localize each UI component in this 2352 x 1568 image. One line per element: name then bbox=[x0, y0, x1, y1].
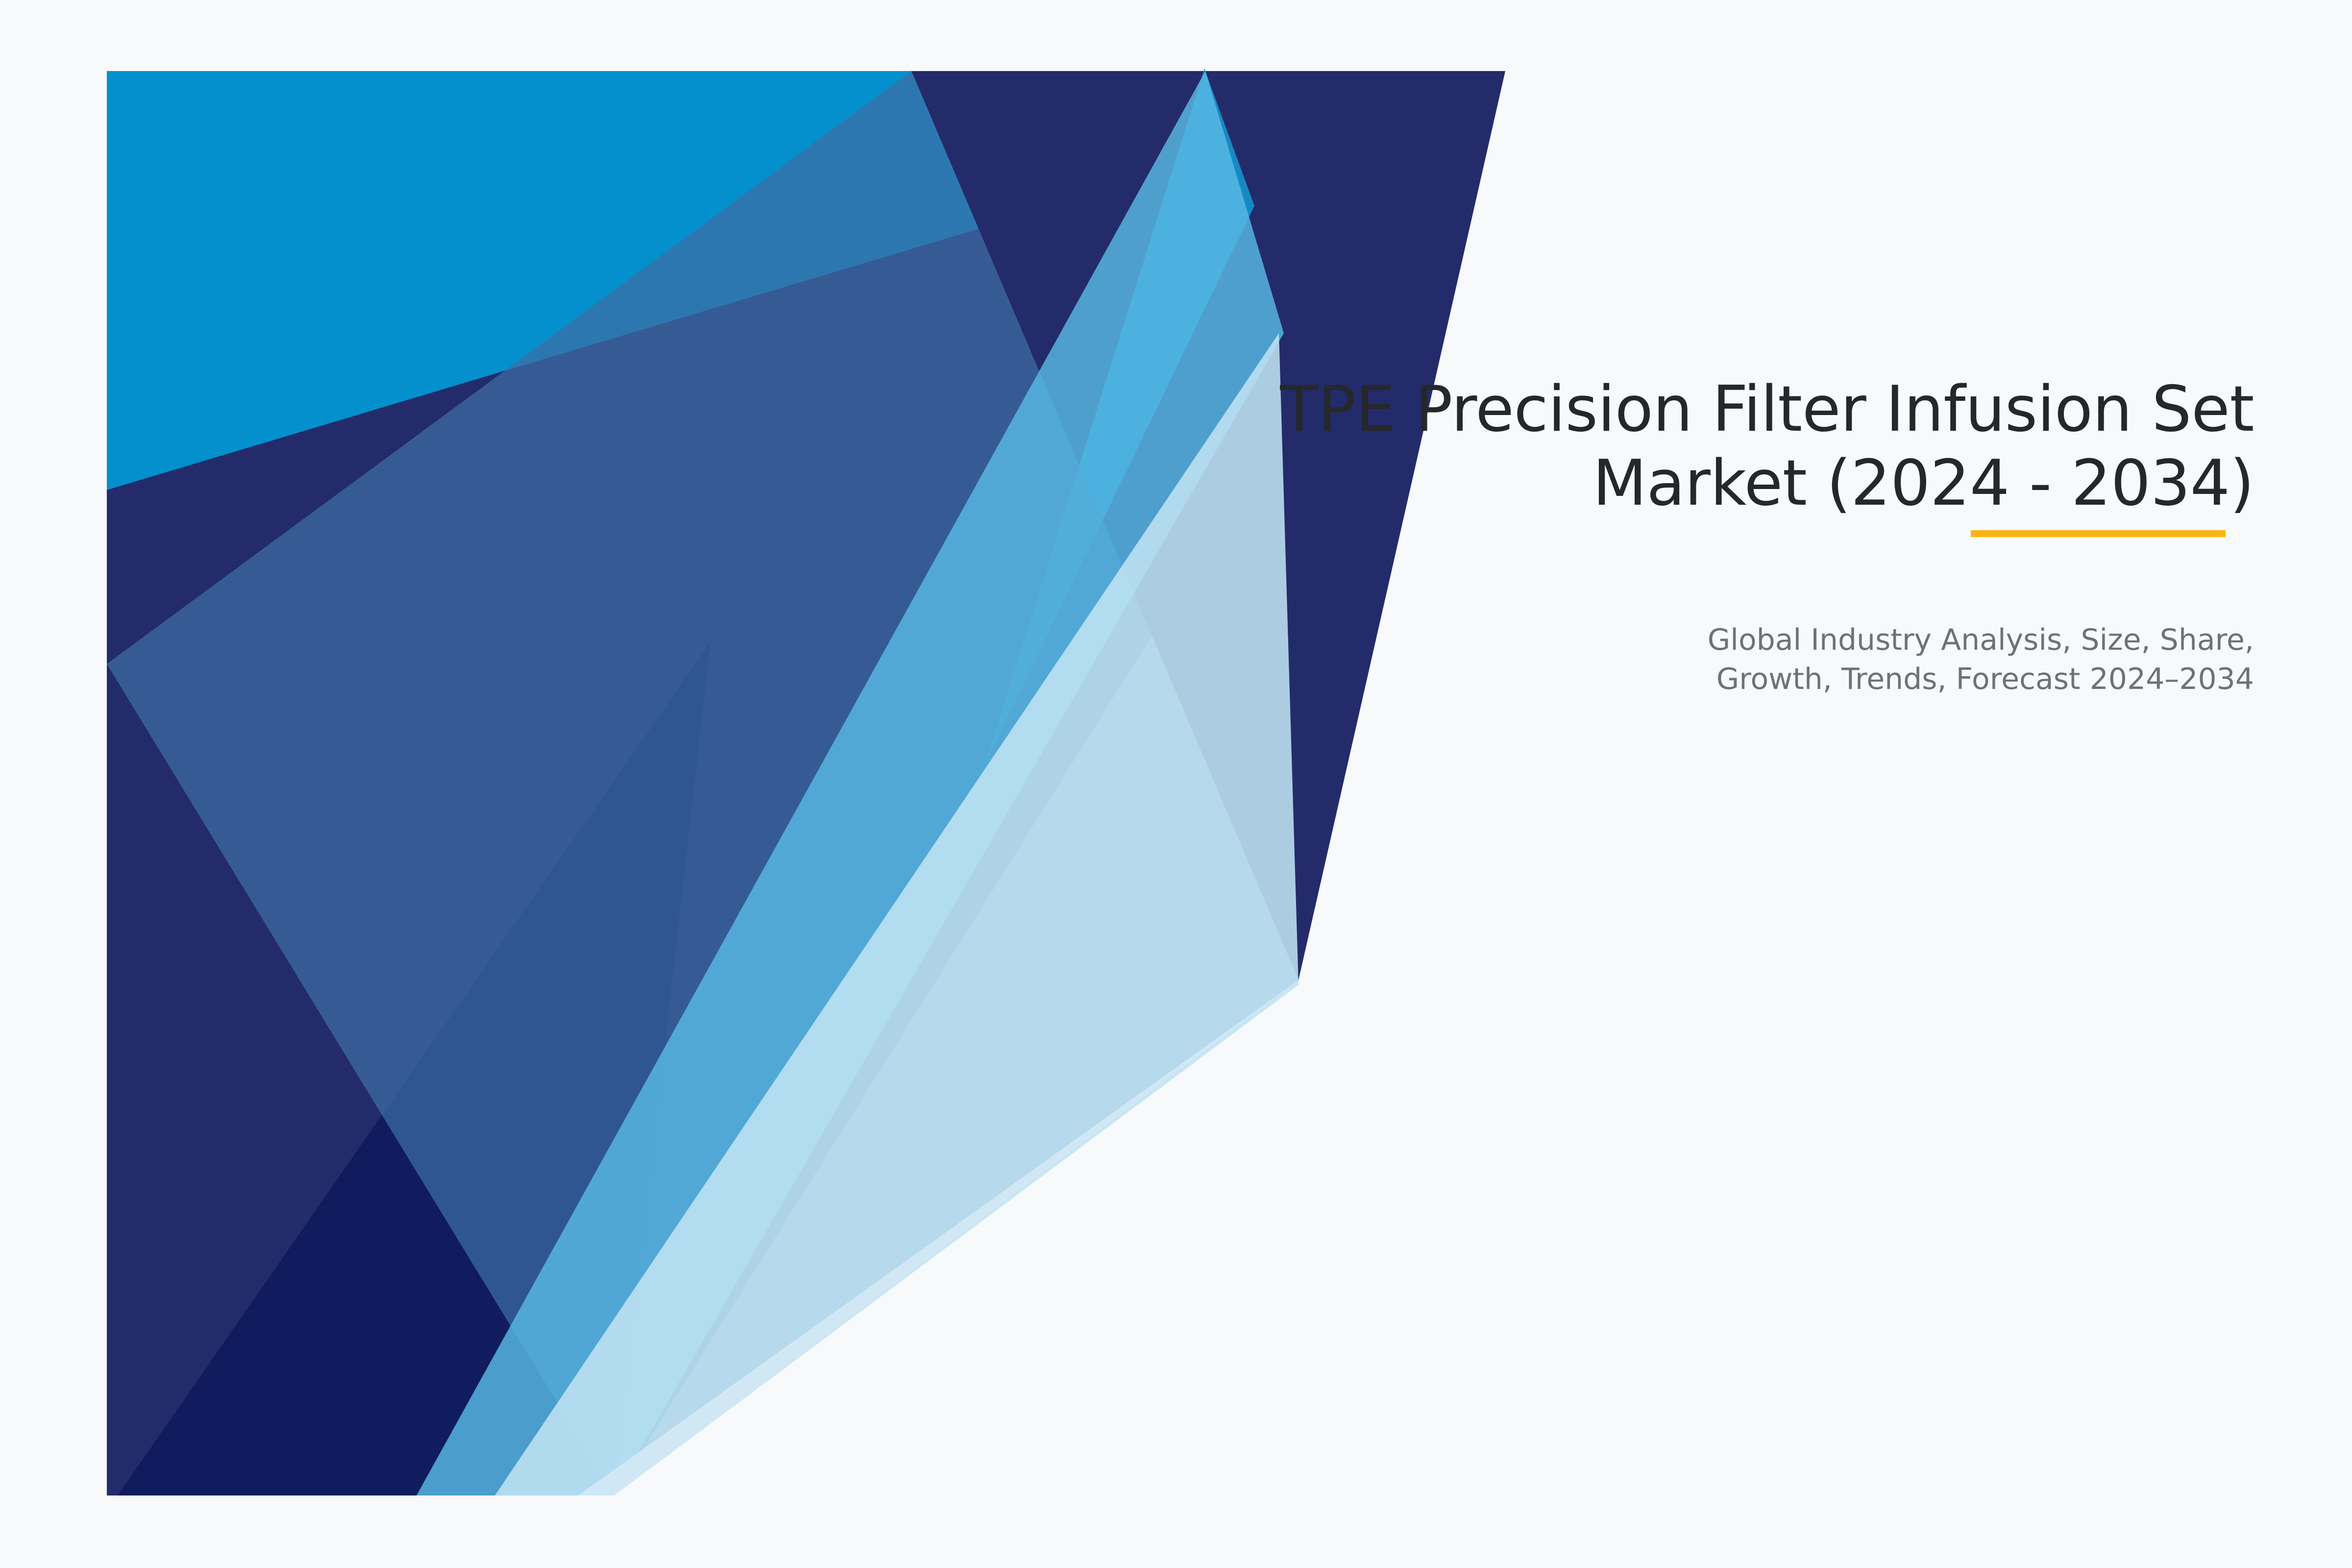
page-subtitle: Global Industry Analysis, Size, Share, G… bbox=[955, 621, 2254, 699]
page-title-line-2: Market (2024 - 2034) bbox=[955, 446, 2254, 520]
report-cover-page: TPE Precision Filter Infusion Set Market… bbox=[0, 0, 2352, 1568]
page-subtitle-line-2: Growth, Trends, Forecast 2024–2034 bbox=[955, 660, 2254, 699]
page-title: TPE Precision Filter Infusion Set Market… bbox=[955, 372, 2254, 520]
page-title-line-1: TPE Precision Filter Infusion Set bbox=[955, 372, 2254, 446]
title-underline-accent bbox=[1971, 530, 2226, 537]
cover-text-block: TPE Precision Filter Infusion Set Market… bbox=[955, 372, 2254, 699]
page-subtitle-line-1: Global Industry Analysis, Size, Share, bbox=[955, 621, 2254, 660]
abstract-geometric-artwork bbox=[0, 0, 2352, 1568]
